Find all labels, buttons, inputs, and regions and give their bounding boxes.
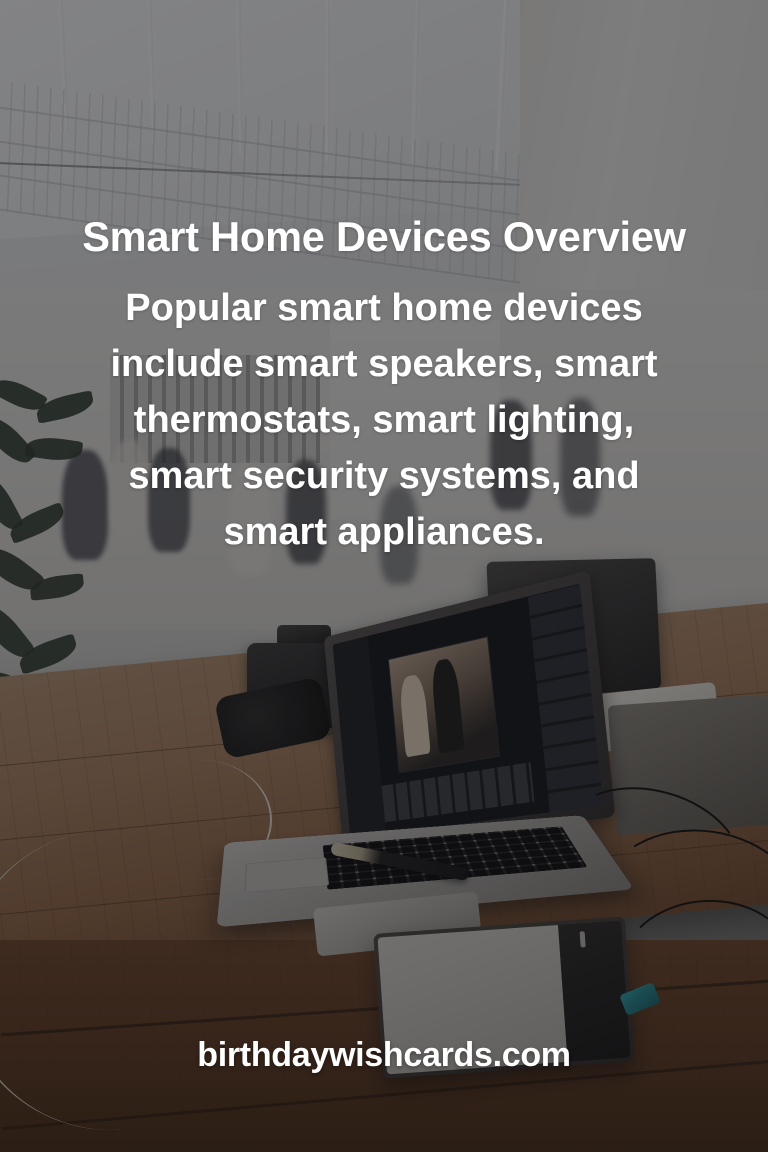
page-title: Smart Home Devices Overview [0, 214, 768, 260]
text-layer: Smart Home Devices Overview Popular smar… [0, 0, 768, 1152]
pin-card: Smart Home Devices Overview Popular smar… [0, 0, 768, 1152]
description-text: Popular smart home devices include smart… [0, 280, 768, 560]
site-watermark: birthdaywishcards.com [0, 1036, 768, 1075]
